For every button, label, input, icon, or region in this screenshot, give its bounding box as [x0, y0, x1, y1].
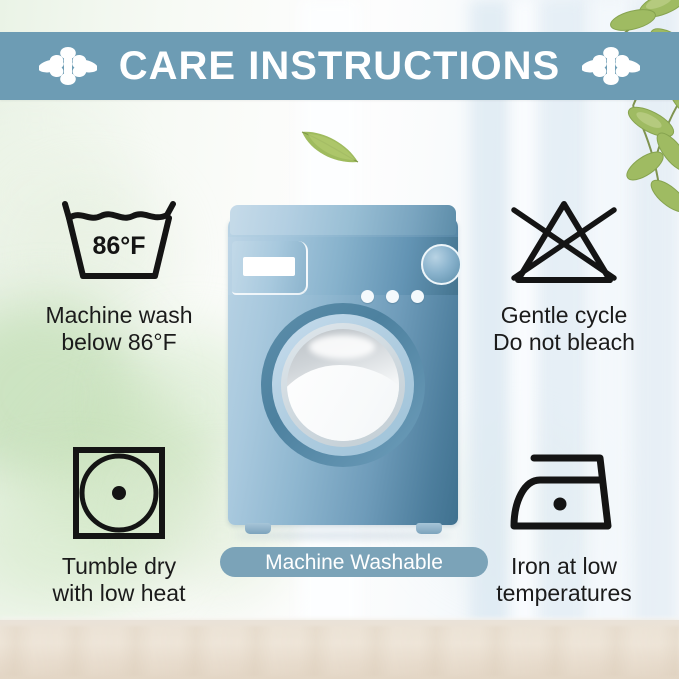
care-item-label: Iron at low temperatures [496, 553, 632, 607]
triangle-crossed-no-bleach-icon [506, 196, 622, 288]
care-item-iron-low: Iron at low temperatures [455, 443, 673, 607]
machine-door-reflection [287, 365, 399, 441]
machine-foot [416, 523, 442, 534]
machine-door [261, 303, 425, 467]
machine-foot [245, 523, 271, 534]
care-item-label: Machine wash below 86°F [45, 302, 192, 356]
machine-indicator-light [411, 290, 424, 303]
care-item-machine-wash: 86°F Machine wash below 86°F [14, 192, 224, 356]
machine-indicator-light [386, 290, 399, 303]
machine-door-ring-inner [281, 323, 405, 447]
wash-tub-icon-wrapper: 86°F [59, 192, 179, 292]
header-banner: CARE INSTRUCTIONS [0, 32, 679, 100]
washing-machine-illustration [228, 205, 458, 535]
care-item-tumble-dry-low: Tumble dry with low heat [14, 443, 224, 607]
page-title: CARE INSTRUCTIONS [119, 46, 560, 86]
machine-washable-badge: Machine Washable [220, 547, 488, 577]
iron-low-heat-icon [504, 450, 624, 536]
machine-door-glass [287, 329, 399, 441]
machine-top-lid [230, 205, 456, 235]
iron-icon-wrapper [504, 443, 624, 543]
care-instructions-poster: CARE INSTRUCTIONS 86°F Machine wa [0, 0, 679, 679]
care-item-label: Tumble dry with low heat [53, 553, 186, 607]
tumble-dry-low-icon [71, 445, 167, 541]
detergent-drawer-slot [243, 257, 295, 276]
tumble-dry-icon-wrapper [71, 443, 167, 543]
care-item-gentle-cycle-no-bleach: Gentle cycle Do not bleach [455, 192, 673, 356]
table-wood-grain [0, 626, 679, 676]
machine-program-knob [421, 244, 462, 285]
wash-temperature-value: 86°F [59, 232, 179, 261]
fleur-de-lis-icon [39, 43, 97, 89]
badge-label: Machine Washable [265, 552, 443, 573]
machine-indicator-light [361, 290, 374, 303]
machine-door-ring-outer [272, 314, 414, 456]
fleur-de-lis-icon [582, 43, 640, 89]
no-bleach-icon-wrapper [506, 192, 622, 292]
machine-door-highlight [309, 335, 375, 359]
care-item-label: Gentle cycle Do not bleach [493, 302, 635, 356]
detergent-drawer [232, 241, 308, 295]
floating-leaf-decoration [298, 122, 362, 168]
